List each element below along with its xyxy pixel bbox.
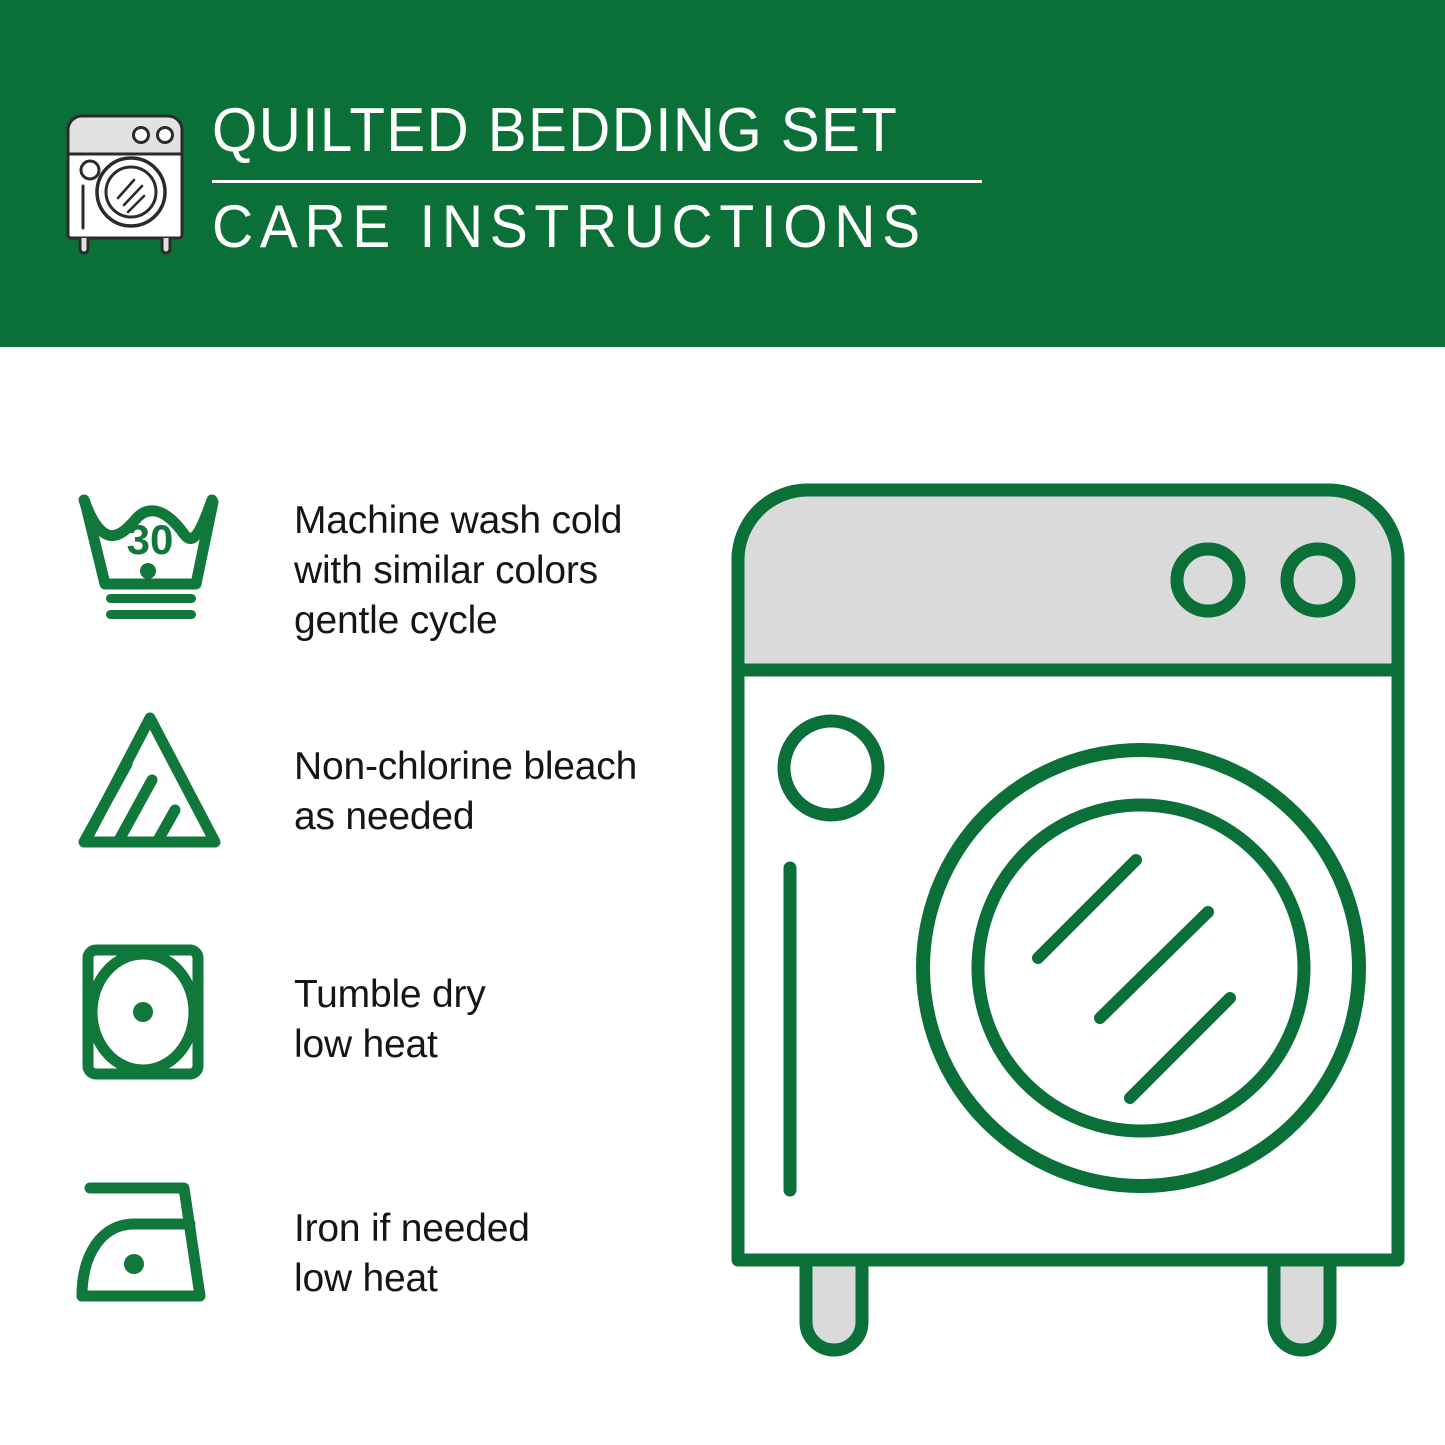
washing-machine-illustration	[718, 470, 1418, 1370]
control-knob	[1177, 549, 1239, 611]
washing-machine-icon	[62, 104, 188, 256]
care-instructions-graphic: QUILTED BEDDING SET CARE INSTRUCTIONS 30	[0, 0, 1445, 1445]
header-band: QUILTED BEDDING SET CARE INSTRUCTIONS	[0, 0, 1445, 347]
care-row-bleach: Non-chlorine bleach as needed	[72, 702, 692, 932]
care-label-tumble-dry: Tumble dry low heat	[294, 932, 486, 1070]
header-divider	[212, 180, 982, 183]
care-row-tumble-dry: Tumble dry low heat	[72, 932, 692, 1162]
wash-tub-30-symbol: 30	[72, 472, 232, 632]
machine-leg	[806, 1260, 862, 1350]
care-label-machine-wash: Machine wash cold with similar colors ge…	[294, 472, 622, 646]
care-label-bleach: Non-chlorine bleach as needed	[294, 702, 637, 842]
care-label-iron: Iron if needed low heat	[294, 1162, 530, 1304]
dispenser-button	[784, 721, 878, 815]
care-row-machine-wash: 30 Machine wash cold with similar colors…	[72, 472, 692, 702]
svg-text:30: 30	[127, 516, 174, 563]
page-title: QUILTED BEDDING SET	[212, 96, 936, 166]
control-knob	[1287, 549, 1349, 611]
iron-low-heat-symbol	[72, 1162, 232, 1322]
non-chlorine-bleach-triangle-symbol	[72, 702, 232, 862]
header-text-block: QUILTED BEDDING SET CARE INSTRUCTIONS	[212, 96, 982, 261]
header-content: QUILTED BEDDING SET CARE INSTRUCTIONS	[62, 96, 982, 261]
care-row-iron: Iron if needed low heat	[72, 1162, 692, 1392]
machine-leg	[1274, 1260, 1330, 1350]
care-instruction-list: 30 Machine wash cold with similar colors…	[72, 472, 692, 1392]
tumble-dry-low-symbol	[72, 932, 232, 1092]
page-subtitle: CARE INSTRUCTIONS	[212, 193, 944, 261]
